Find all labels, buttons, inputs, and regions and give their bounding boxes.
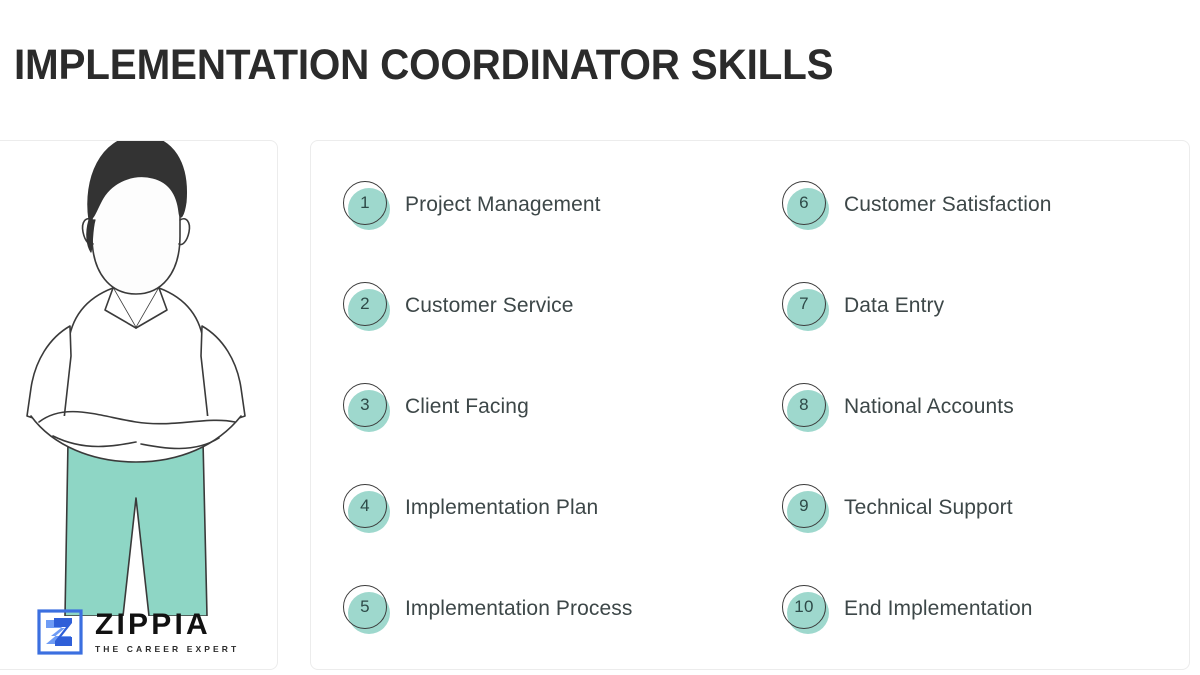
badge-number: 6 <box>782 181 826 225</box>
list-item[interactable]: 8 National Accounts <box>778 377 1189 437</box>
list-item[interactable]: 7 Data Entry <box>778 276 1189 336</box>
skill-label: Customer Service <box>405 294 573 318</box>
badge-number: 3 <box>343 383 387 427</box>
illustration-card: ZIPPIA THE CAREER EXPERT <box>0 140 278 670</box>
list-item[interactable]: 10 End Implementation <box>778 579 1189 639</box>
number-badge: 3 <box>339 381 391 433</box>
badge-number: 2 <box>343 282 387 326</box>
badge-number: 9 <box>782 484 826 528</box>
brand-name: ZIPPIA <box>95 610 239 640</box>
skill-label: Customer Satisfaction <box>844 193 1052 217</box>
number-badge: 9 <box>778 482 830 534</box>
list-item[interactable]: 6 Customer Satisfaction <box>778 175 1189 235</box>
skills-column-left: 1 Project Management 2 Customer Service <box>311 175 750 639</box>
skill-label: Technical Support <box>844 496 1013 520</box>
page-title: IMPLEMENTATION COORDINATOR SKILLS <box>14 43 833 88</box>
list-item[interactable]: 4 Implementation Plan <box>339 478 750 538</box>
zippia-z-mark-icon <box>37 609 83 655</box>
badge-number: 4 <box>343 484 387 528</box>
skill-label: End Implementation <box>844 597 1033 621</box>
number-badge: 8 <box>778 381 830 433</box>
skill-label: Implementation Process <box>405 597 632 621</box>
number-badge: 1 <box>339 179 391 231</box>
number-badge: 10 <box>778 583 830 635</box>
skill-label: National Accounts <box>844 395 1014 419</box>
list-item[interactable]: 1 Project Management <box>339 175 750 235</box>
list-item[interactable]: 5 Implementation Process <box>339 579 750 639</box>
zippia-logo[interactable]: ZIPPIA THE CAREER EXPERT <box>37 609 239 655</box>
infographic-canvas: IMPLEMENTATION COORDINATOR SKILLS <box>0 0 1200 675</box>
skills-column-right: 6 Customer Satisfaction 7 Data Entry <box>750 175 1189 639</box>
badge-number: 5 <box>343 585 387 629</box>
list-item[interactable]: 9 Technical Support <box>778 478 1189 538</box>
skill-label: Project Management <box>405 193 601 217</box>
badge-number: 7 <box>782 282 826 326</box>
skills-card: 1 Project Management 2 Customer Service <box>310 140 1190 670</box>
number-badge: 2 <box>339 280 391 332</box>
list-item[interactable]: 3 Client Facing <box>339 377 750 437</box>
badge-number: 1 <box>343 181 387 225</box>
number-badge: 6 <box>778 179 830 231</box>
brand-tagline: THE CAREER EXPERT <box>95 645 239 654</box>
skill-label: Implementation Plan <box>405 496 598 520</box>
badge-number: 10 <box>782 585 826 629</box>
number-badge: 5 <box>339 583 391 635</box>
person-arms-crossed-illustration <box>0 140 278 616</box>
list-item[interactable]: 2 Customer Service <box>339 276 750 336</box>
zippia-wordmark: ZIPPIA THE CAREER EXPERT <box>95 610 239 654</box>
number-badge: 4 <box>339 482 391 534</box>
skill-label: Data Entry <box>844 294 944 318</box>
skills-grid: 1 Project Management 2 Customer Service <box>311 141 1189 669</box>
number-badge: 7 <box>778 280 830 332</box>
skill-label: Client Facing <box>405 395 529 419</box>
badge-number: 8 <box>782 383 826 427</box>
